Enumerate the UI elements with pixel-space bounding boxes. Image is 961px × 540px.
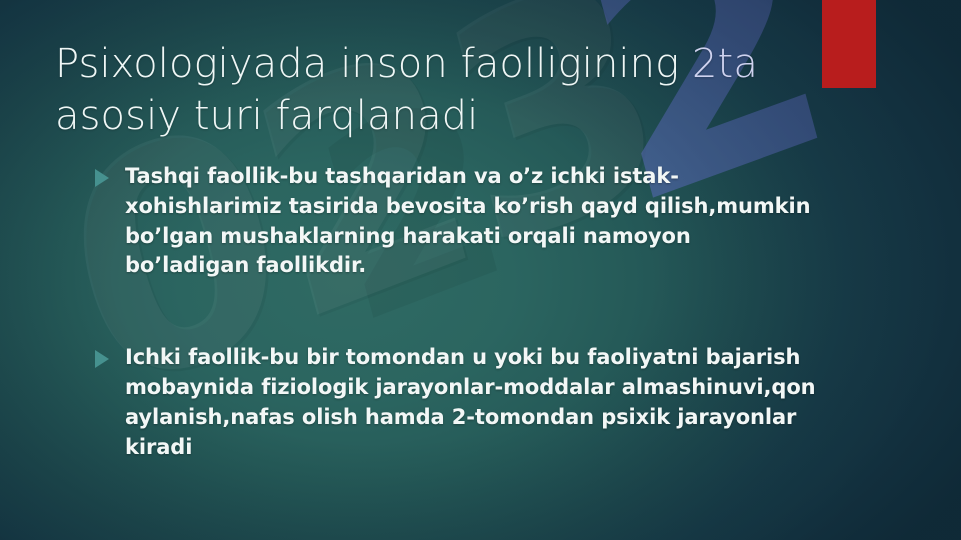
slide-canvas: 2 023 2 Psixologiyada inson faolligining… [0, 0, 961, 540]
slide-content: Psixologiyada inson faolligining 2ta aso… [0, 0, 961, 540]
title-line2-text: asosiy turi farqlanadi [55, 93, 478, 139]
bullet-text-external-activity: Tashqi faollik-bu tashqaridan va o’z ich… [125, 164, 811, 277]
triangle-bullet-icon [95, 350, 109, 368]
title-accent-2ta: 2ta [692, 41, 758, 87]
list-item: Ichki faollik-bu bir tomondan u yoki bu … [92, 343, 816, 462]
triangle-bullet-icon [95, 169, 109, 187]
list-item: Tashqi faollik-bu tashqaridan va o’z ich… [92, 162, 816, 281]
bullet-list: Tashqi faollik-bu tashqaridan va o’z ich… [92, 162, 816, 463]
slide-title: Psixologiyada inson faolligining 2ta aso… [55, 38, 815, 142]
title-line1-text: Psixologiyada inson faolligining [55, 41, 692, 87]
bullet-text-internal-activity: Ichki faollik-bu bir tomondan u yoki bu … [125, 345, 816, 458]
